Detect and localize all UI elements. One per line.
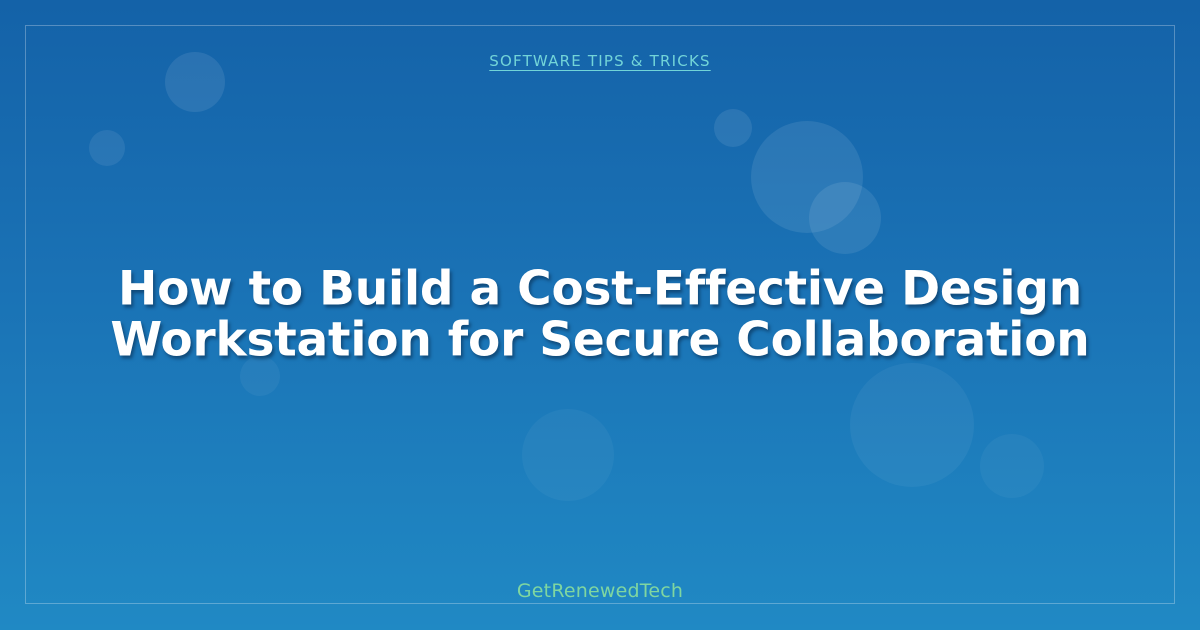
brand-name: GetRenewedTech [0,580,1200,602]
social-share-card: SOFTWARE TIPS & TRICKS How to Build a Co… [0,0,1200,630]
title-block: How to Build a Cost-Effective Design Wor… [0,264,1200,366]
category-eyebrow-label[interactable]: SOFTWARE TIPS & TRICKS [489,52,710,70]
card-content: SOFTWARE TIPS & TRICKS How to Build a Co… [0,0,1200,630]
page-title: How to Build a Cost-Effective Design Wor… [100,264,1100,366]
